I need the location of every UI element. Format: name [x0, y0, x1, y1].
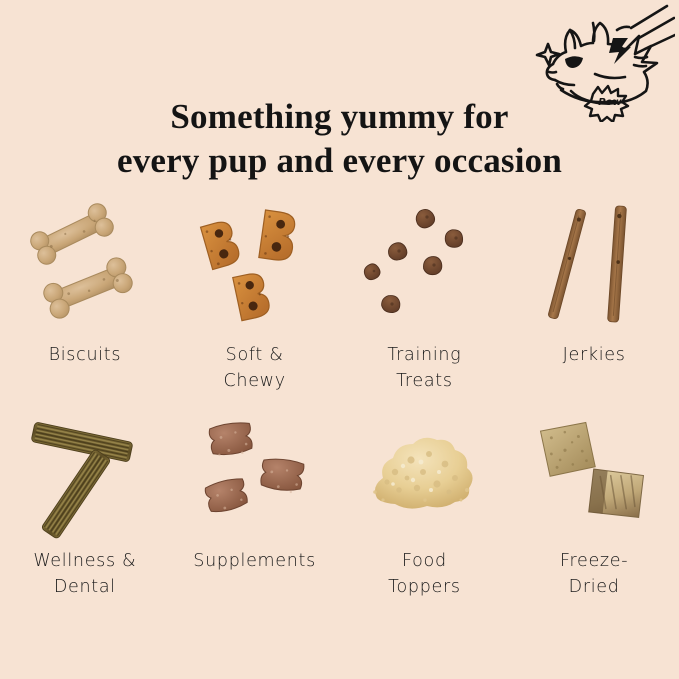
headline-line-1: Something yummy for	[0, 95, 679, 139]
category-label-training-treats: Training Treats	[387, 342, 461, 394]
category-soft-chewy[interactable]: Soft & Chewy	[170, 196, 340, 394]
category-label-freeze-dried: Freeze- Dried	[560, 548, 628, 600]
training-treats-image	[349, 196, 499, 336]
supplements-image	[180, 402, 330, 542]
wellness-dental-image	[10, 402, 160, 542]
category-label-wellness-dental: Wellness & Dental	[33, 548, 136, 600]
freeze-dried-image	[519, 402, 669, 542]
category-supplements[interactable]: Supplements	[170, 402, 340, 600]
food-toppers-image	[349, 402, 499, 542]
category-training-treats[interactable]: Training Treats	[340, 196, 510, 394]
category-label-supplements: Supplements	[193, 548, 316, 574]
page-title: Something yummy for every pup and every …	[0, 95, 679, 183]
category-label-biscuits: Biscuits	[49, 342, 122, 368]
category-biscuits[interactable]: Biscuits	[0, 196, 170, 394]
category-grid: Biscuits	[0, 196, 679, 600]
category-label-soft-chewy: Soft & Chewy	[224, 342, 286, 394]
category-wellness-dental[interactable]: Wellness & Dental	[0, 402, 170, 600]
category-label-food-toppers: Food Toppers	[388, 548, 461, 600]
category-freeze-dried[interactable]: Freeze- Dried	[509, 402, 679, 600]
soft-chewy-image	[180, 196, 330, 336]
category-food-toppers[interactable]: Food Toppers	[340, 402, 510, 600]
headline-line-2: every pup and every occasion	[0, 139, 679, 183]
category-jerkies[interactable]: Jerkies	[509, 196, 679, 394]
jerkies-image	[519, 196, 669, 336]
category-label-jerkies: Jerkies	[563, 342, 626, 368]
biscuits-image	[10, 196, 160, 336]
